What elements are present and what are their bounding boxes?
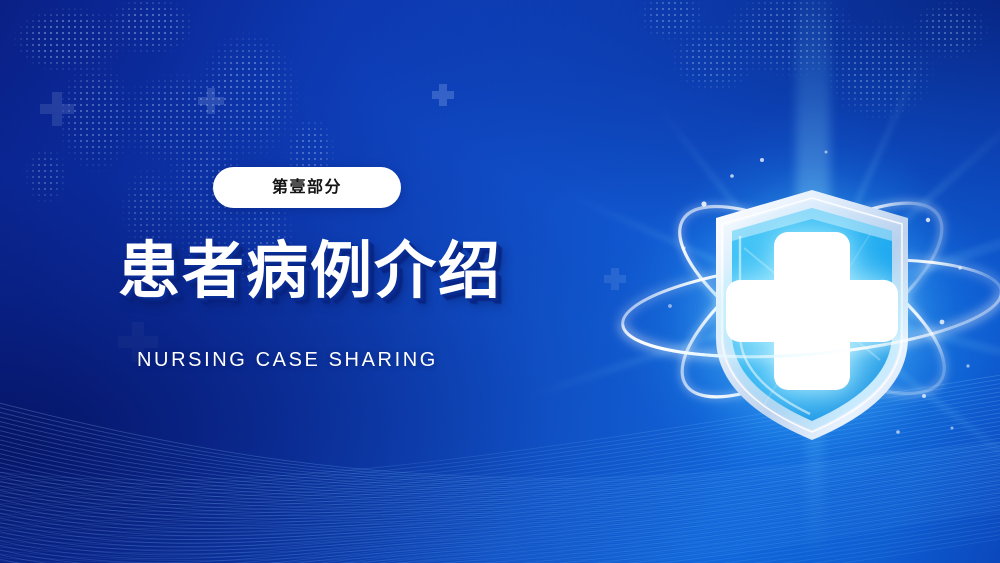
slide-canvas: 第壹部分 患者病例介绍 NURSING CASE SHARING <box>0 0 1000 563</box>
medical-shield-emblem <box>612 108 1000 468</box>
section-number-label: 第壹部分 <box>272 180 342 196</box>
page-title: 患者病例介绍 <box>118 240 502 304</box>
title-block: 第壹部分 患者病例介绍 NURSING CASE SHARING <box>0 0 560 563</box>
page-subtitle: NURSING CASE SHARING <box>137 349 438 372</box>
section-number-badge[interactable]: 第壹部分 <box>213 167 401 208</box>
